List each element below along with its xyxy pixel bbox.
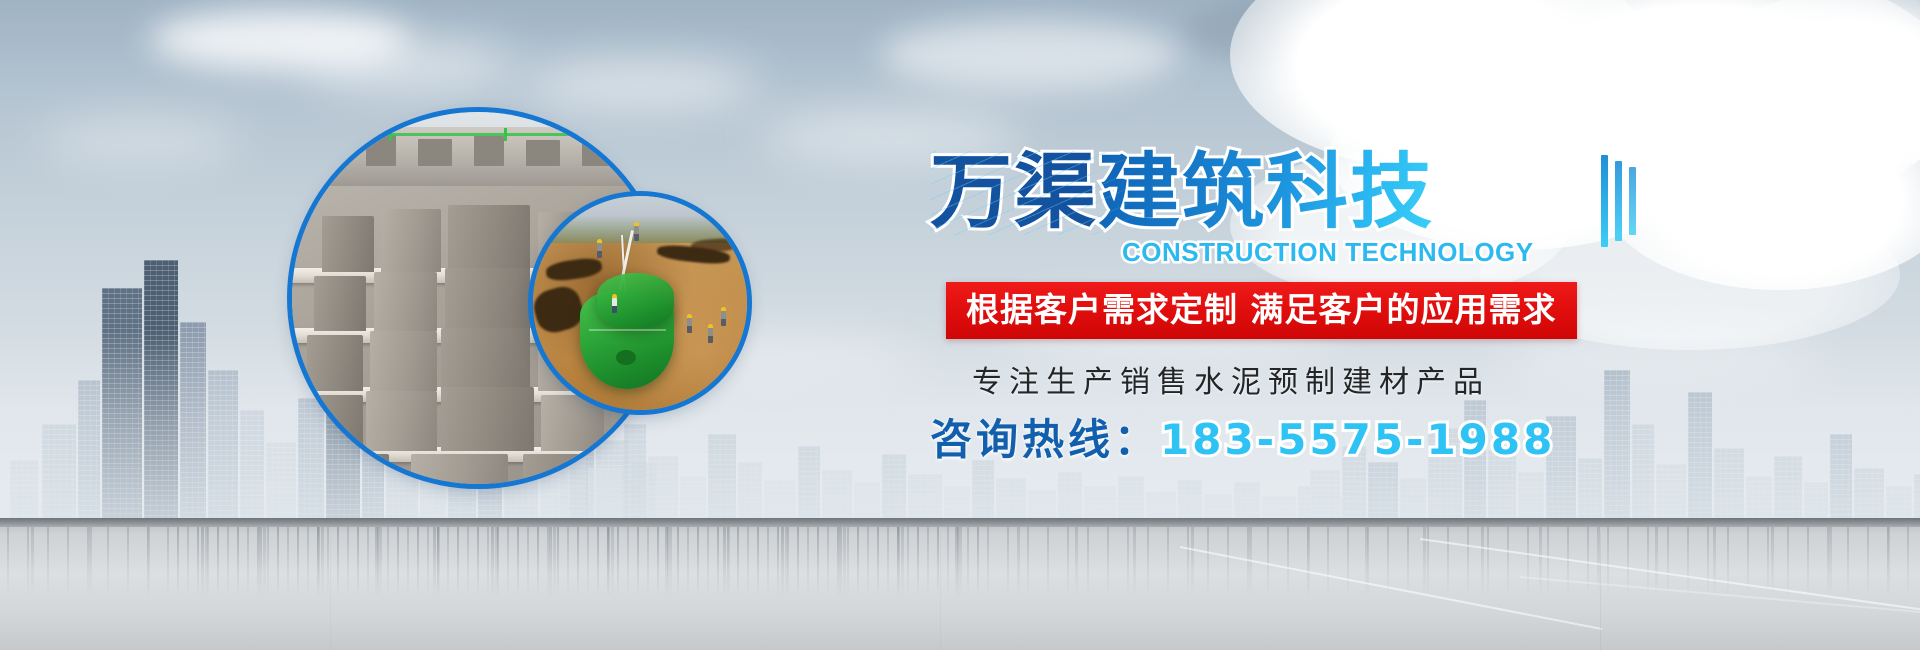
brand-headline: 万渠 万渠 建筑科技 建筑科技 [930, 145, 1630, 241]
hotline-number[interactable]: 183-5575-1988 [1160, 415, 1555, 464]
red-highlight-banner: 根据客户需求定制 满足客户的应用需求 [946, 282, 1577, 339]
hotline-label: 咨询热线： [930, 415, 1160, 464]
banner-text-block: 万渠 万渠 建筑科技 建筑科技 CONSTRUCTION TECHNOLOGY … [930, 145, 1630, 463]
brand-name-part1: 万渠 [930, 145, 1098, 240]
promo-banner: 万渠 万渠 建筑科技 建筑科技 CONSTRUCTION TECHNOLOGY … [0, 0, 1920, 650]
product-tagline: 专注生产销售水泥预制建材产品 [972, 357, 1630, 401]
english-subtitle: CONSTRUCTION TECHNOLOGY [1122, 237, 1534, 267]
photo-septic-tank-installation [533, 196, 747, 410]
reflective-ground [0, 518, 1920, 650]
brand-name-part1-wrap: 万渠 万渠 [930, 145, 1098, 241]
brand-name-part2-wrap: 建筑科技 建筑科技 [1098, 145, 1434, 241]
english-subtitle-wrap: CONSTRUCTION TECHNOLOGY CONSTRUCTION TEC… [1122, 237, 1534, 268]
hotline-number-wrap[interactable]: 183-5575-1988 183-5575-1988 [1160, 417, 1555, 463]
english-subtitle-row: CONSTRUCTION TECHNOLOGY CONSTRUCTION TEC… [930, 237, 1630, 268]
triple-bar-decoration-icon [1601, 155, 1636, 247]
hotline-row: 咨询热线： 183-5575-1988 183-5575-1988 [930, 417, 1630, 463]
brand-name-part2: 建筑科技 [1098, 145, 1434, 240]
